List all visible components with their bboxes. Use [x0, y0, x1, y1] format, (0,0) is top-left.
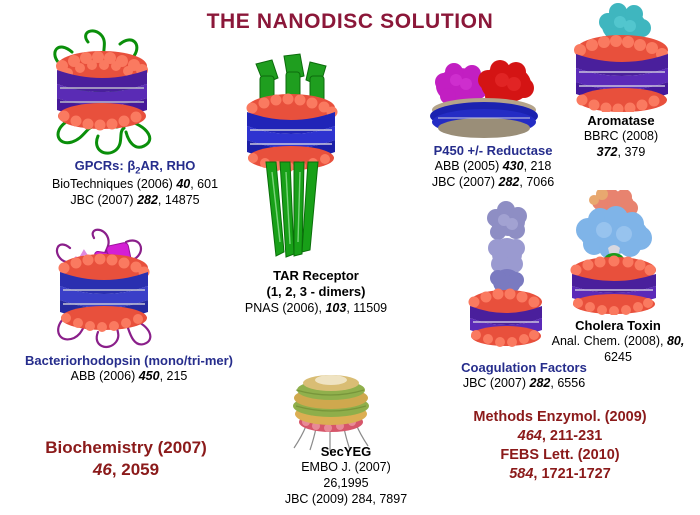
figure-nanodisc-secyeg	[272, 372, 392, 454]
caption-aromatase: Aromatase BBRC (2008) 372, 379	[556, 113, 686, 161]
caption-tar-ref1: PNAS (2006), 103, 11509	[208, 301, 424, 317]
caption-aromatase-heading: Aromatase	[556, 113, 686, 129]
caption-secyeg: SecYEG EMBO J. (2007) 26,1995 JBC (2009)…	[248, 444, 444, 508]
caption-gpcr: GPCRs: β2AR, RHO BioTechniques (2006) 40…	[14, 158, 256, 209]
figure-nanodisc-tar-receptor	[222, 42, 362, 267]
caption-gpcr-ref1: BioTechniques (2006) 40, 601	[14, 177, 256, 193]
citation-biochemistry: Biochemistry (2007) 46, 2059	[14, 437, 238, 481]
figure-nanodisc-p450	[418, 52, 553, 144]
caption-bacteriorhodopsin-ref1: ABB (2006) 450, 215	[4, 369, 254, 385]
citation-febs-lett-pages: 584, 1721-1727	[424, 465, 696, 484]
figure-nanodisc-gpcr	[28, 18, 178, 163]
caption-secyeg-ref2: 26,1995	[248, 476, 444, 492]
figure-nanodisc-aromatase	[556, 2, 691, 112]
caption-tar-heading: TAR Receptor	[208, 268, 424, 284]
citation-reviews: Methods Enzymol. (2009) 464, 211-231 FEB…	[424, 408, 696, 483]
figure-nanodisc-coagulation-factors	[452, 200, 562, 360]
caption-gpcr-ref2: JBC (2007) 282, 14875	[14, 193, 256, 209]
caption-cholera-toxin: Cholera Toxin Anal. Chem. (2008), 80, 62…	[540, 318, 696, 366]
citation-biochemistry-line2: 46, 2059	[14, 459, 238, 481]
caption-bacteriorhodopsin: Bacteriorhodopsin (mono/tri-mer) ABB (20…	[4, 353, 254, 385]
citation-febs-lett-line: FEBS Lett. (2010)	[424, 446, 696, 465]
caption-tar-subheading: (1, 2, 3 - dimers)	[208, 284, 424, 300]
caption-p450-ref2: JBC (2007) 282, 7066	[398, 175, 588, 191]
caption-tar-receptor: TAR Receptor (1, 2, 3 - dimers) PNAS (20…	[208, 268, 424, 317]
caption-secyeg-ref3: JBC (2009) 284, 7897	[248, 492, 444, 508]
slide-canvas: THE NANODISC SOLUTION	[0, 0, 700, 515]
caption-secyeg-ref1: EMBO J. (2007)	[248, 460, 444, 476]
citation-biochemistry-line1: Biochemistry (2007)	[14, 437, 238, 459]
caption-cholera-heading: Cholera Toxin	[540, 318, 696, 334]
caption-aromatase-ref2: 372, 379	[556, 145, 686, 161]
caption-coagulation-ref1: JBC (2007) 282, 6556	[424, 376, 624, 392]
figure-nanodisc-bacteriorhodopsin	[34, 222, 179, 357]
caption-cholera-ref1: Anal. Chem. (2008), 80,	[540, 334, 696, 350]
caption-p450-ref1: ABB (2005) 430, 218	[398, 159, 588, 175]
figure-nanodisc-cholera-toxin	[548, 190, 683, 315]
caption-coagulation-heading: Coagulation Factors	[424, 360, 624, 376]
caption-coagulation-factors: Coagulation Factors JBC (2007) 282, 6556	[424, 360, 624, 392]
caption-bacteriorhodopsin-heading: Bacteriorhodopsin (mono/tri-mer)	[4, 353, 254, 369]
caption-gpcr-heading: GPCRs: β2AR, RHO	[14, 158, 256, 177]
caption-aromatase-ref1: BBRC (2008)	[556, 129, 686, 145]
caption-secyeg-heading: SecYEG	[248, 444, 444, 460]
citation-methods-enzymol-pages: 464, 211-231	[424, 427, 696, 446]
citation-methods-enzymol-line: Methods Enzymol. (2009)	[424, 408, 696, 427]
